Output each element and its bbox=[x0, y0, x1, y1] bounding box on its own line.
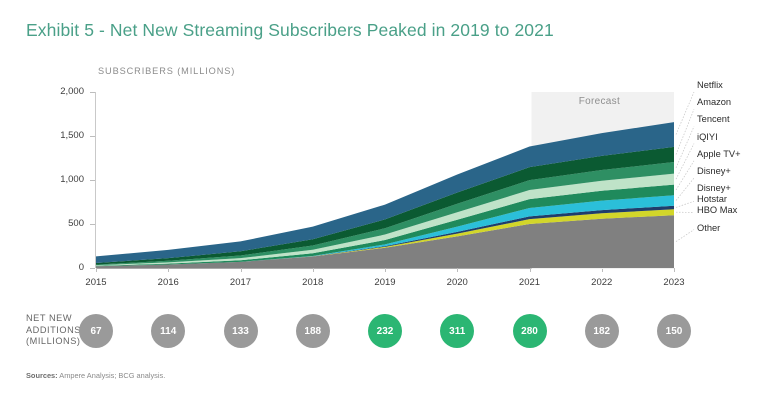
net-new-additions-bubble: 232 bbox=[368, 314, 402, 348]
legend-leader-line bbox=[676, 92, 694, 135]
net-new-additions-bubble: 311 bbox=[440, 314, 474, 348]
legend-item-other[interactable]: Other bbox=[697, 223, 720, 234]
net-new-additions-bubble: 188 bbox=[296, 314, 330, 348]
net-new-additions-bubble: 182 bbox=[585, 314, 619, 348]
net-new-additions-bubble: 67 bbox=[79, 314, 113, 348]
legend-item-tencent[interactable]: Tencent bbox=[697, 114, 730, 125]
legend-item-disney[interactable]: Disney+ bbox=[697, 166, 731, 177]
legend-leader-line bbox=[676, 230, 694, 242]
legend-item-hbo-max[interactable]: HBO Max bbox=[697, 205, 737, 216]
legend-item-label: Disney+ bbox=[697, 183, 731, 194]
net-new-additions-bubble: 280 bbox=[513, 314, 547, 348]
legend-item-disney-hotstar[interactable]: Disney+Hotstar bbox=[697, 183, 731, 204]
legend-item-netflix[interactable]: Netflix bbox=[697, 80, 723, 91]
legend-leader-line bbox=[676, 161, 694, 190]
forecast-annotation-label: Forecast bbox=[579, 96, 620, 107]
net-new-additions-bubble: 114 bbox=[151, 314, 185, 348]
legend-leader-line bbox=[676, 178, 694, 201]
net-new-additions-bubble: 150 bbox=[657, 314, 691, 348]
net-new-additions-bubble: 133 bbox=[224, 314, 258, 348]
legend-item-apple-tv[interactable]: Apple TV+ bbox=[697, 149, 741, 160]
legend-item-label: Hotstar bbox=[697, 194, 731, 205]
sources-note: Sources: Ampere Analysis; BCG analysis. bbox=[26, 371, 165, 380]
legend-leader-line bbox=[676, 126, 694, 167]
sources-label: Sources: bbox=[26, 371, 58, 380]
stacked-area-chart bbox=[96, 92, 674, 268]
legend-item-amazon[interactable]: Amazon bbox=[697, 97, 731, 108]
legend-leader-line bbox=[676, 201, 694, 207]
sources-text: Ampere Analysis; BCG analysis. bbox=[58, 371, 166, 380]
legend-item-iqiyi[interactable]: iQIYI bbox=[697, 132, 718, 143]
